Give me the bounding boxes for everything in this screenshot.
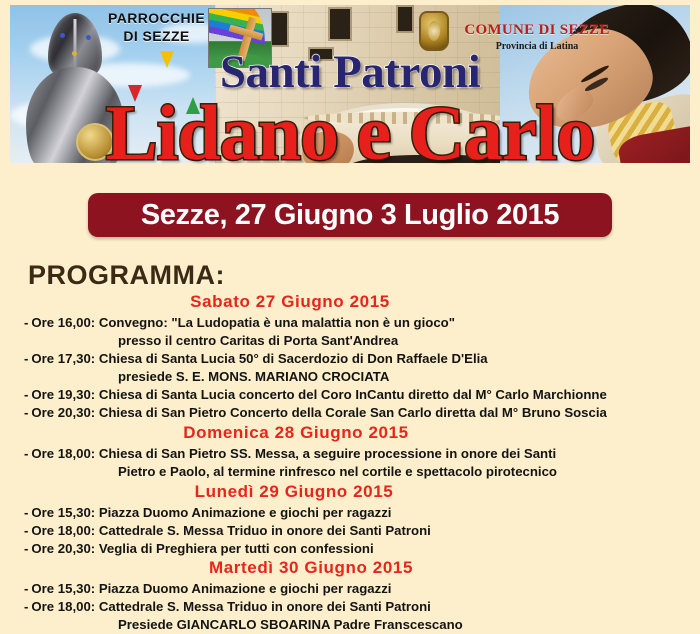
entry-bullet: -: [24, 599, 28, 614]
mitre-gem: [86, 35, 91, 40]
entry-bullet: -: [24, 581, 28, 596]
entry-bullet: -: [24, 351, 28, 366]
date-ribbon-text: Sezze, 27 Giugno 3 Luglio 2015: [141, 199, 559, 232]
comune-crest-icon: [419, 11, 449, 51]
comune-name: COMUNE DI SEZZE: [447, 22, 627, 39]
entry-text: Ore 20,30: Veglia di Preghiera per tutti…: [31, 541, 373, 556]
program-entry-continuation: Pietro e Paolo, al termine rinfresco nel…: [0, 463, 700, 481]
entry-text: Ore 19,30: Chiesa di Santa Lucia concert…: [31, 387, 606, 402]
program-day-heading: Domenica 28 Giugno 2015: [0, 423, 700, 443]
entry-text: Ore 18,00: Chiesa di San Pietro SS. Mess…: [31, 446, 556, 461]
program-entry: -Ore 16,00: Convegno: "La Ludopatia è un…: [0, 314, 700, 332]
program-day-heading: Sabato 27 Giugno 2015: [0, 292, 700, 312]
entry-text: Ore 16,00: Convegno: "La Ludopatia è una…: [31, 315, 455, 330]
program-entry: -Ore 18,00: Cattedrale S. Messa Triduo i…: [0, 598, 700, 616]
program-entry: -Ore 20,30: Chiesa di San Pietro Concert…: [0, 404, 700, 422]
program-entry: -Ore 15,30: Piazza Duomo Animazione e gi…: [0, 580, 700, 598]
program-entry: -Ore 19,30: Chiesa di Santa Lucia concer…: [0, 386, 700, 404]
parrocchie-label-line2: DI SEZZE: [108, 28, 205, 46]
program-entry-continuation: presso il centro Caritas di Porta Sant'A…: [0, 332, 700, 350]
entry-bullet: -: [24, 505, 28, 520]
program-entry: -Ore 15,30: Piazza Duomo Animazione e gi…: [0, 504, 700, 522]
entry-text: Ore 15,30: Piazza Duomo Animazione e gio…: [31, 581, 391, 596]
entry-text: Ore 15,30: Piazza Duomo Animazione e gio…: [31, 505, 391, 520]
entry-text: Ore 20,30: Chiesa di San Pietro Concerto…: [31, 405, 606, 420]
entry-bullet: -: [24, 387, 28, 402]
program-entry-continuation: Presiede GIANCARLO SBOARINA Padre Fransc…: [0, 616, 700, 634]
entry-bullet: -: [24, 446, 28, 461]
entry-bullet: -: [24, 523, 28, 538]
entry-bullet: -: [24, 405, 28, 420]
tower-window: [330, 9, 350, 39]
program-day-heading: Martedì 30 Giugno 2015: [0, 558, 700, 578]
entry-text: Ore 17,30: Chiesa di Santa Lucia 50° di …: [31, 351, 487, 366]
parrocchie-label: PARROCCHIE DI SEZZE: [108, 10, 205, 46]
title-line-lidano-e-carlo: Lidano e Carlo: [0, 94, 700, 172]
tower-window: [398, 7, 412, 31]
entry-text: Ore 18,00: Cattedrale S. Messa Triduo in…: [31, 523, 430, 538]
parrocchie-label-line1: PARROCCHIE: [108, 10, 205, 28]
program-list: Sabato 27 Giugno 2015-Ore 16,00: Convegn…: [0, 291, 700, 634]
entry-text: Ore 18,00: Cattedrale S. Messa Triduo in…: [31, 599, 430, 614]
program-entry: -Ore 18,00: Chiesa di San Pietro SS. Mes…: [0, 445, 700, 463]
program-entry: -Ore 18,00: Cattedrale S. Messa Triduo i…: [0, 522, 700, 540]
entry-bullet: -: [24, 541, 28, 556]
program-day-heading: Lunedì 29 Giugno 2015: [0, 482, 700, 502]
entry-bullet: -: [24, 315, 28, 330]
date-ribbon: Sezze, 27 Giugno 3 Luglio 2015: [88, 193, 612, 237]
mitre-gem: [60, 33, 65, 38]
program-entry-continuation: presiede S. E. MONS. MARIANO CROCIATA: [0, 368, 700, 386]
program-entry: -Ore 20,30: Veglia di Preghiera per tutt…: [0, 540, 700, 558]
page-title: PROGRAMMA:: [28, 260, 225, 291]
program-entry: -Ore 17,30: Chiesa di Santa Lucia 50° di…: [0, 350, 700, 368]
